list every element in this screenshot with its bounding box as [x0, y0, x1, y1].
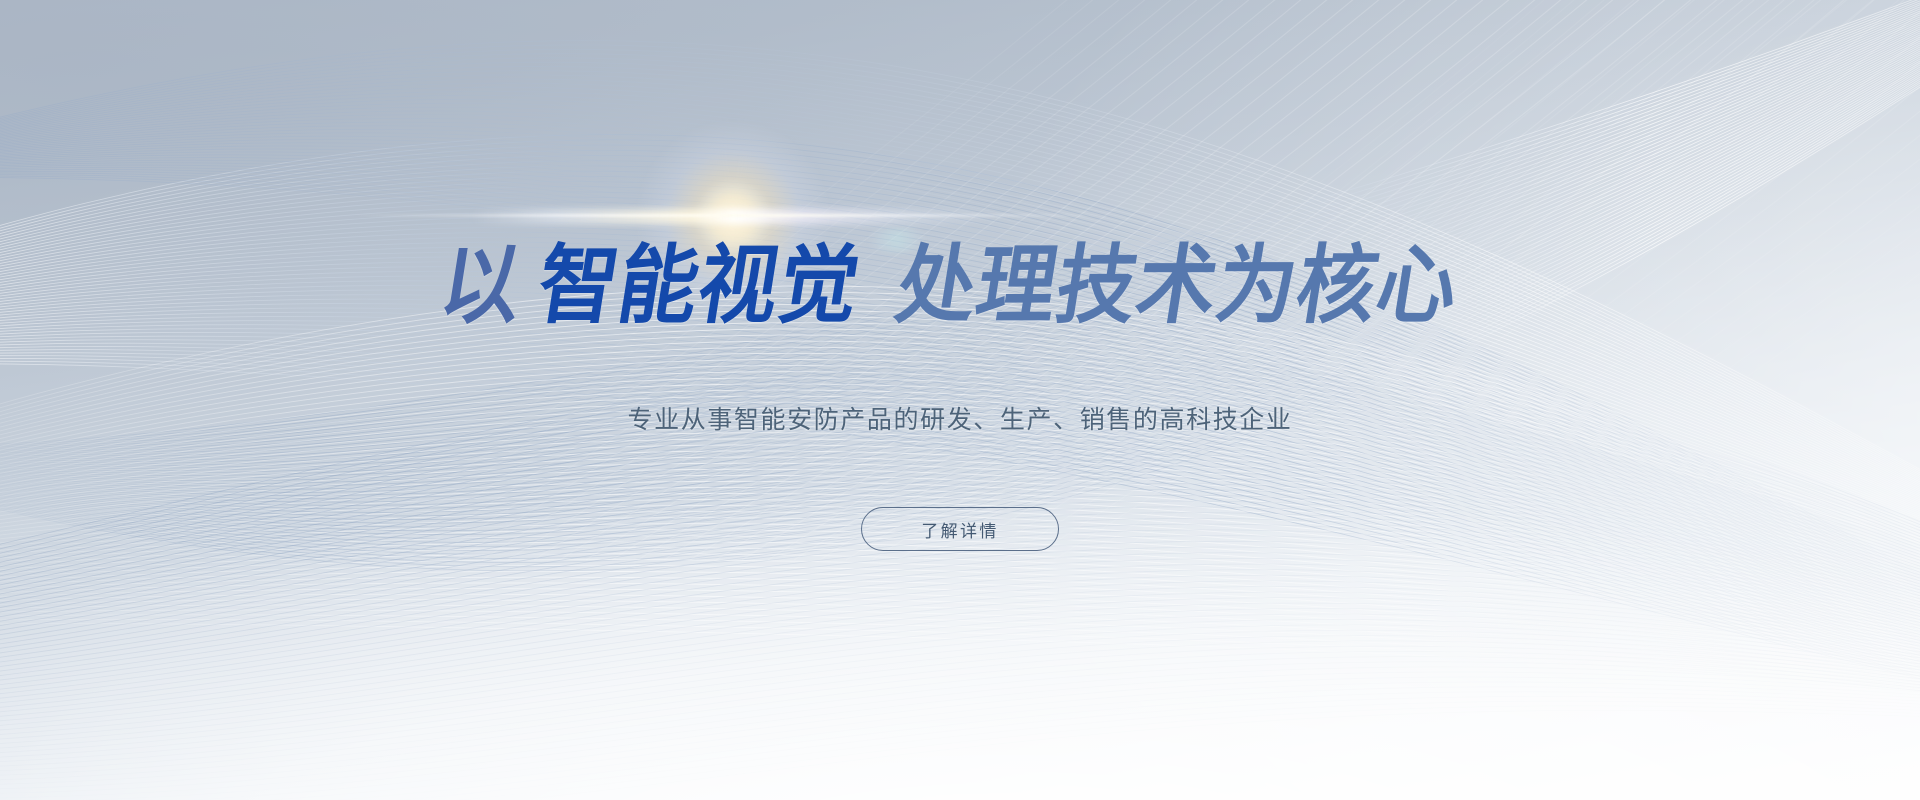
hero-content: 以智能视觉处理技术为核心 专业从事智能安防产品的研发、生产、销售的高科技企业 了…	[0, 0, 1920, 800]
headline-segment-muted: 处理技术为核心	[891, 243, 1465, 329]
learn-more-button[interactable]: 了解详情	[861, 507, 1059, 551]
page-subtitle: 专业从事智能安防产品的研发、生产、销售的高科技企业	[627, 404, 1292, 437]
headline-segment-accent: 智能视觉	[532, 243, 866, 329]
hero-banner: 以智能视觉处理技术为核心 专业从事智能安防产品的研发、生产、销售的高科技企业 了…	[0, 0, 1920, 800]
page-title: 以智能视觉处理技术为核心	[438, 243, 1482, 329]
headline-segment-soft: 以	[435, 243, 529, 329]
